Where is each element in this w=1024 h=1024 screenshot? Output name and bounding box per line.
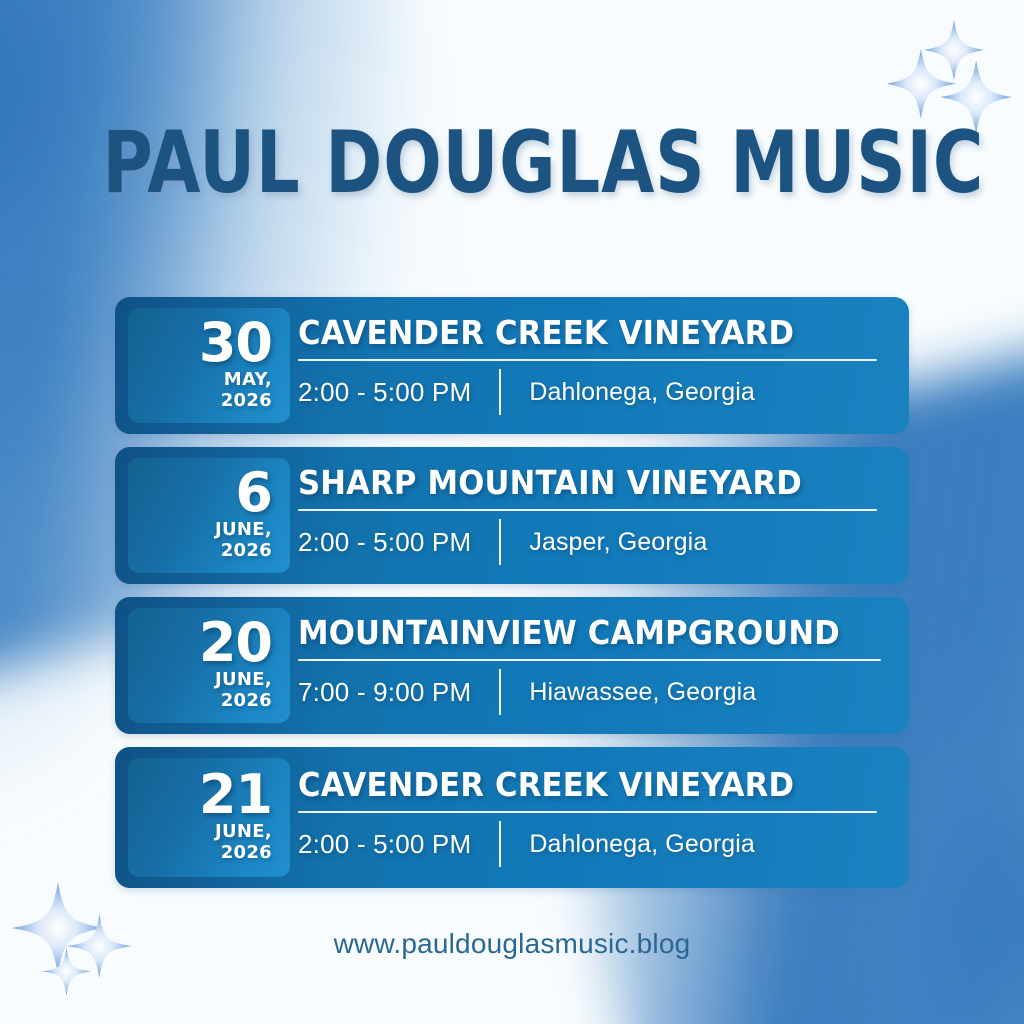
event-month: JUNE, — [215, 520, 272, 541]
event-venue: MOUNTAINVIEW CAMPGROUND — [298, 616, 840, 651]
event-time: 2:00 - 5:00 PM — [298, 829, 471, 860]
event-year: 2026 — [221, 843, 272, 864]
date-panel: 20 JUNE, 2026 — [128, 608, 290, 723]
vertical-divider — [499, 369, 501, 415]
website-url[interactable]: www.pauldouglasmusic.blog — [0, 928, 1024, 960]
event-time: 2:00 - 5:00 PM — [298, 527, 471, 558]
poster-canvas: PAUL DOUGLAS MUSIC 30 MAY, 2026 CAVENDER… — [0, 0, 1024, 1024]
event-list: 30 MAY, 2026 CAVENDER CREEK VINEYARD 2:0… — [115, 297, 909, 888]
date-frame: 30 MAY, 2026 — [115, 297, 290, 434]
event-venue: SHARP MOUNTAIN VINEYARD — [298, 466, 836, 501]
date-frame: 21 JUNE, 2026 — [115, 747, 290, 888]
event-venue: CAVENDER CREEK VINEYARD — [298, 316, 836, 351]
event-year: 2026 — [221, 391, 272, 412]
event-time: 7:00 - 9:00 PM — [298, 677, 471, 708]
event-year: 2026 — [221, 541, 272, 562]
vertical-divider — [499, 519, 501, 565]
event-card[interactable]: 20 JUNE, 2026 MOUNTAINVIEW CAMPGROUND 7:… — [115, 597, 909, 734]
divider — [298, 359, 877, 361]
event-details: SHARP MOUNTAIN VINEYARD 2:00 - 5:00 PM J… — [290, 447, 909, 584]
event-location: Hiawassee, Georgia — [529, 678, 756, 707]
event-card[interactable]: 6 JUNE, 2026 SHARP MOUNTAIN VINEYARD 2:0… — [115, 447, 909, 584]
event-venue: CAVENDER CREEK VINEYARD — [298, 768, 836, 803]
event-card[interactable]: 21 JUNE, 2026 CAVENDER CREEK VINEYARD 2:… — [115, 747, 909, 888]
event-meta: 2:00 - 5:00 PM Dahlonega, Georgia — [298, 369, 877, 415]
page-title: PAUL DOUGLAS MUSIC — [102, 120, 921, 206]
date-frame: 20 JUNE, 2026 — [115, 597, 290, 734]
event-meta: 2:00 - 5:00 PM Dahlonega, Georgia — [298, 821, 877, 867]
event-card[interactable]: 30 MAY, 2026 CAVENDER CREEK VINEYARD 2:0… — [115, 297, 909, 434]
divider — [298, 509, 877, 511]
event-year: 2026 — [221, 691, 272, 712]
event-day: 21 — [199, 767, 272, 822]
event-details: MOUNTAINVIEW CAMPGROUND 7:00 - 9:00 PM H… — [290, 597, 909, 734]
vertical-divider — [499, 669, 501, 715]
event-details: CAVENDER CREEK VINEYARD 2:00 - 5:00 PM D… — [290, 747, 909, 888]
event-month: JUNE, — [215, 822, 272, 843]
date-frame: 6 JUNE, 2026 — [115, 447, 290, 584]
event-meta: 2:00 - 5:00 PM Jasper, Georgia — [298, 519, 877, 565]
event-day: 6 — [235, 465, 272, 520]
vertical-divider — [499, 821, 501, 867]
event-location: Jasper, Georgia — [529, 528, 707, 557]
event-location: Dahlonega, Georgia — [529, 378, 755, 407]
date-panel: 21 JUNE, 2026 — [128, 758, 290, 877]
event-day: 30 — [199, 315, 272, 370]
event-location: Dahlonega, Georgia — [529, 830, 755, 859]
event-meta: 7:00 - 9:00 PM Hiawassee, Georgia — [298, 669, 881, 715]
event-month: MAY, — [224, 370, 272, 391]
divider — [298, 811, 877, 813]
divider — [298, 659, 881, 661]
event-month: JUNE, — [215, 670, 272, 691]
event-time: 2:00 - 5:00 PM — [298, 377, 471, 408]
date-panel: 30 MAY, 2026 — [128, 308, 290, 423]
event-details: CAVENDER CREEK VINEYARD 2:00 - 5:00 PM D… — [290, 297, 909, 434]
event-day: 20 — [199, 615, 272, 670]
date-panel: 6 JUNE, 2026 — [128, 458, 290, 573]
